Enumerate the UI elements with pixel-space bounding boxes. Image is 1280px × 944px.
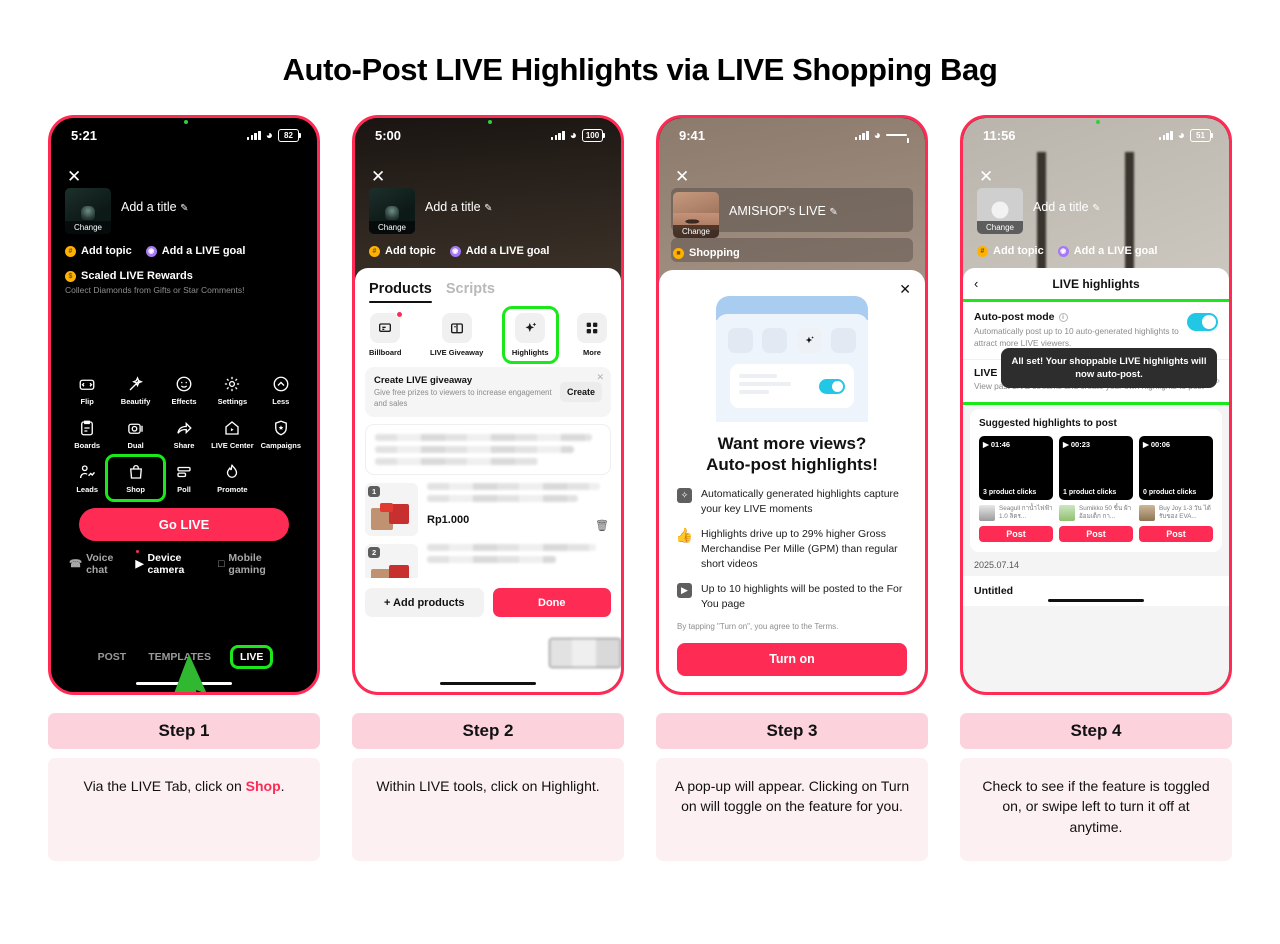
add-topic-label: Add topic [81, 245, 132, 257]
gift-graphic [380, 503, 393, 512]
page-title: Auto-Post LIVE Highlights via LIVE Shopp… [0, 0, 1280, 88]
giveaway-sub: Give free prizes to viewers to increase … [374, 388, 552, 409]
status-bar: 9:41 ◕ [659, 118, 925, 152]
add-title-field[interactable]: Add a title ✎ [1033, 188, 1100, 214]
smiley-icon [174, 374, 193, 393]
auto-post-popup: ✕ [659, 270, 925, 692]
close-icon[interactable]: ✕ [899, 281, 911, 298]
home-indicator [440, 682, 536, 686]
product-list-item[interactable]: 1 Rp1.000 🗑 [355, 475, 621, 536]
hero-tile [762, 328, 787, 353]
chevron-up-circle-icon [271, 374, 290, 393]
step-column-1: 5:21 ◕ 82 ✕ Change Ad [48, 115, 320, 861]
cover-image [385, 206, 399, 220]
stream-title-label: AMISHOP's LIVE [729, 204, 826, 218]
rewards-row: $ Scaled LIVE Rewards [65, 270, 303, 282]
battery-icon [886, 134, 907, 136]
live-setup-panel: Change Add a title ✎ # Add topic [51, 188, 317, 295]
step-label-3: Step 3 [656, 713, 928, 749]
tool-label: Shop [126, 485, 145, 494]
diamond-icon: $ [65, 271, 76, 282]
recording-date: 2025.07.14 [963, 552, 1229, 576]
scaled-live-rewards[interactable]: $ Scaled LIVE Rewards Collect Diamonds f… [65, 270, 303, 295]
hero-tile [831, 328, 856, 353]
recording-name-label: Untitled [974, 585, 1013, 597]
tool-settings[interactable]: Settings [208, 374, 256, 406]
sheet-tool-more[interactable]: More [577, 313, 607, 357]
auto-post-text: Auto-post mode i Automatically post up t… [974, 311, 1179, 349]
setup-chips: ■ Shopping [673, 247, 911, 259]
magic-wand-icon [126, 374, 145, 393]
phone-screen-1: 5:21 ◕ 82 ✕ Change Ad [51, 118, 317, 692]
sheet-tool-label: Billboard [369, 348, 402, 357]
auto-post-toggle[interactable] [1187, 313, 1218, 331]
person-trend-icon [78, 462, 97, 481]
highlight-thumbnail[interactable]: ▶ 00:06 0 product clicks [1139, 436, 1213, 500]
topic-icon: # [369, 246, 380, 257]
recording-dot-icon [184, 120, 188, 124]
change-cover-label[interactable]: Change [977, 221, 1023, 235]
phone-mockup-1: 5:21 ◕ 82 ✕ Change Ad [48, 115, 320, 695]
add-live-goal-label: Add a LIVE goal [162, 245, 246, 257]
highlight-duration: ▶ 00:06 [1143, 440, 1170, 449]
caption-text: A pop-up will appear. Clicking on Turn o… [675, 778, 909, 814]
info-icon[interactable]: i [1059, 313, 1068, 322]
live-tools-panel: Flip Beautify Effects Settings Less Boar… [51, 374, 317, 576]
tool-beautify[interactable]: Beautify [111, 374, 159, 406]
cover-thumbnail[interactable]: Change [673, 192, 719, 238]
add-products-button[interactable]: + Add products [365, 588, 484, 617]
goal-icon: ◉ [1058, 246, 1069, 257]
tool-promote[interactable]: Promote [208, 462, 256, 494]
product-thumbnail [1139, 505, 1155, 521]
blurred-text [427, 556, 556, 563]
change-cover-label[interactable]: Change [369, 221, 415, 235]
shopping-bag-icon [126, 462, 145, 481]
notification-badge [396, 311, 403, 318]
highlight-clicks: 1 product clicks [1063, 489, 1116, 496]
tab-scripts[interactable]: Scripts [446, 281, 495, 297]
step-label-2: Step 2 [352, 713, 624, 749]
phone-screen-3: 9:41 ◕ ✕ Change [659, 118, 925, 692]
post-button[interactable]: Post [979, 526, 1053, 542]
product-search-card[interactable] [365, 424, 611, 475]
setup-chips: # Add topic ◉ Add a LIVE goal [65, 245, 303, 257]
close-icon[interactable]: ✕ [979, 168, 993, 185]
step-caption-3: A pop-up will appear. Clicking on Turn o… [656, 758, 928, 861]
shopping-label: Shopping [689, 247, 740, 259]
status-indicators: ◕ 51 [1159, 129, 1211, 142]
battery-icon: 51 [1190, 129, 1211, 142]
recording-dot-icon [488, 120, 492, 124]
step-caption-2: Within LIVE tools, click on Highlight. [352, 758, 624, 861]
blurred-text [427, 544, 596, 551]
highlight-clicks: 3 product clicks [983, 489, 1036, 496]
wifi-icon: ◕ [266, 129, 273, 141]
signal-icon [551, 131, 565, 140]
poll-bars-icon [174, 462, 193, 481]
status-time: 9:41 [679, 128, 705, 143]
product-index: 1 [368, 486, 380, 497]
tool-label: Share [174, 441, 195, 450]
setup-chips: # Add topic ◉ Add a LIVE goal [369, 245, 607, 257]
camera-icon [126, 418, 145, 437]
tool-label: Beautify [121, 397, 151, 406]
highlight-product: Seagull กาน้ำไฟฟ้า 1.0 ลิตร... [979, 505, 1053, 521]
tool-label: Flip [81, 397, 94, 406]
close-icon[interactable]: ✕ [675, 168, 689, 185]
suggested-highlights-section: Suggested highlights to post ▶ 01:46 3 p… [970, 409, 1222, 552]
caption-text: Check to see if the feature is toggled o… [982, 778, 1209, 835]
giveaway-create-button[interactable]: Create [560, 382, 602, 402]
popup-heading: Want more views? Auto-post highlights! [677, 434, 907, 475]
tool-label: Leads [76, 485, 98, 494]
clipboard-icon [78, 418, 97, 437]
mode-mobile-gaming[interactable]: □ Mobile gaming [218, 552, 299, 576]
tool-leads[interactable]: Leads [63, 462, 111, 494]
trash-icon[interactable]: 🗑 [595, 519, 609, 532]
blurred-text [427, 483, 600, 490]
step-caption-1: Via the LIVE Tab, click on Shop. [48, 758, 320, 861]
highlight-card[interactable]: ▶ 01:46 3 product clicks Seagull กาน้ำไฟ… [979, 436, 1053, 542]
caption-text: Via the LIVE Tab, click on [83, 778, 245, 794]
add-topic-chip[interactable]: # Add topic [369, 245, 436, 257]
phone-icon: ☎ [69, 558, 82, 570]
add-topic-chip[interactable]: # Add topic [977, 245, 1044, 257]
add-title-label: Add a title [425, 200, 481, 214]
tool-grid-spacer [257, 462, 305, 494]
tool-label: Less [272, 397, 289, 406]
tool-flip[interactable]: Flip [63, 374, 111, 406]
step-column-4: 11:56 ◕ 51 ✕ Change A [960, 115, 1232, 861]
auto-post-sub: Automatically post up to 10 auto-generat… [974, 326, 1179, 349]
blurred-text [427, 495, 578, 502]
product-price: Rp1.000 [427, 514, 611, 526]
title-row: Change Add a title ✎ [369, 188, 607, 234]
flame-icon [223, 462, 242, 481]
giveaway-banner[interactable]: Create LIVE giveaway Give free prizes to… [365, 367, 611, 417]
tool-label: Settings [218, 397, 248, 406]
grid-icon [577, 313, 607, 343]
mode-label: Voice chat [86, 552, 135, 576]
tool-label: Dual [127, 441, 143, 450]
suggested-grid: ▶ 01:46 3 product clicks Seagull กาน้ำไฟ… [979, 436, 1213, 542]
add-live-goal-chip[interactable]: ◉ Add a LIVE goal [146, 245, 246, 257]
live-setup-panel: Change Add a title ✎ # Add topic [963, 188, 1229, 257]
status-indicators: ◕ 82 [247, 129, 299, 142]
house-play-icon [223, 418, 242, 437]
chevron-left-icon[interactable]: ‹ [974, 276, 978, 291]
benefit-item: ✧ Automatically generated highlights cap… [677, 487, 907, 517]
add-topic-label: Add topic [993, 245, 1044, 257]
suggested-title: Suggested highlights to post [979, 418, 1213, 429]
title-row: Change Add a title ✎ [65, 188, 303, 234]
blurred-text [375, 458, 538, 465]
status-time: 11:56 [983, 128, 1016, 143]
hero-toggle-card [730, 364, 854, 408]
wifi-icon: ◕ [570, 129, 577, 141]
tool-effects[interactable]: Effects [160, 374, 208, 406]
add-topic-label: Add topic [385, 245, 436, 257]
product-image: 1 [365, 483, 418, 536]
add-live-goal-chip[interactable]: ◉ Add a LIVE goal [1058, 245, 1158, 257]
home-indicator [1048, 599, 1144, 603]
video-camera-icon: ▶ [677, 583, 692, 598]
auto-post-title-row: Auto-post mode i [974, 311, 1179, 323]
tool-label: Boards [74, 441, 100, 450]
share-arrow-icon [174, 418, 193, 437]
add-live-goal-label: Add a LIVE goal [1074, 245, 1158, 257]
live-setup-panel: Change AMISHOP's LIVE ✎ ■ Shopping [659, 192, 925, 259]
rewards-title: Scaled LIVE Rewards [81, 270, 193, 282]
mode-selector: ☎ Voice chat ▶ Device camera □ Mobile ga… [63, 541, 305, 576]
blurred-overlay [549, 638, 621, 668]
tool-less[interactable]: Less [257, 374, 305, 406]
go-live-button[interactable]: Go LIVE [79, 508, 289, 541]
step-label-4: Step 4 [960, 713, 1232, 749]
billboard-icon [370, 313, 400, 343]
hero-illustration [716, 296, 868, 422]
tool-poll[interactable]: Poll [160, 462, 208, 494]
tool-campaigns[interactable]: Campaigns [257, 418, 305, 450]
signal-icon [855, 131, 869, 140]
cover-thumbnail[interactable]: Change [977, 188, 1023, 234]
benefit-text: Automatically generated highlights captu… [701, 487, 907, 517]
pencil-icon[interactable]: ✎ [180, 203, 188, 214]
status-time: 5:00 [375, 128, 401, 143]
popup-heading-line1: Want more views? [677, 434, 907, 455]
highlight-clicks: 0 product clicks [1143, 489, 1196, 496]
confirmation-tooltip: All set! Your shoppable LIVE highlights … [1001, 348, 1217, 388]
gift-graphic [389, 565, 409, 578]
wifi-icon: ◕ [1178, 129, 1185, 141]
turn-on-button[interactable]: Turn on [677, 643, 907, 676]
topic-icon: # [65, 246, 76, 257]
pencil-icon[interactable]: ✎ [1092, 203, 1100, 214]
battery-icon: 82 [278, 129, 299, 142]
cover-thumbnail[interactable]: Change [369, 188, 415, 234]
highlight-thumbnail[interactable]: ▶ 00:23 1 product clicks [1059, 436, 1133, 500]
blurred-text [375, 446, 574, 453]
tool-label: Campaigns [261, 441, 301, 450]
gift-box-icon [442, 313, 472, 343]
giveaway-title: Create LIVE giveaway [374, 375, 552, 386]
status-bar: 5:00 ◕ 100 [355, 118, 621, 152]
live-highlights-sheet: ‹ LIVE highlights Auto-post mode i Autom… [963, 268, 1229, 692]
phone-mockup-2: 5:00 ◕ 100 ✕ Change A [352, 115, 624, 695]
battery-icon: 100 [582, 129, 603, 142]
gear-icon [223, 374, 242, 393]
mobile-icon: □ [218, 558, 224, 570]
wifi-icon: ◕ [874, 129, 881, 141]
product-list-item[interactable]: 2 [355, 536, 621, 578]
add-live-goal-label: Add a LIVE goal [466, 245, 550, 257]
tool-label: Poll [177, 485, 191, 494]
sheet-tool-row: Billboard LIVE Giveaway Highlights [355, 297, 621, 365]
caption-tail: . [281, 778, 285, 794]
hero-tile [728, 328, 753, 353]
status-indicators: ◕ 100 [551, 129, 603, 142]
product-name: Buy Joy 1-3 วัน ได้รับของ EVA... [1159, 505, 1213, 521]
tool-grid: Flip Beautify Effects Settings Less Boar… [63, 374, 305, 494]
change-cover-label[interactable]: Change [673, 225, 719, 239]
product-thumbnail [979, 505, 995, 521]
shopping-chip[interactable]: ■ Shopping [673, 247, 740, 259]
product-name: Sumikko 50 ชิ้น ผ้าอ้อมเด็ก กา... [1079, 505, 1133, 521]
highlight-card[interactable]: ▶ 00:06 0 product clicks Buy Joy 1-3 วัน… [1139, 436, 1213, 542]
phone-mockup-4: 11:56 ◕ 51 ✕ Change A [960, 115, 1232, 695]
add-title-field[interactable]: Add a title ✎ [425, 188, 492, 214]
add-title-label: Add a title [121, 200, 177, 214]
auto-post-section: Auto-post mode i Automatically post up t… [963, 302, 1229, 402]
sparkle-icon [515, 313, 545, 343]
recording-dot-icon [1096, 120, 1100, 124]
sheet-tool-label: More [583, 348, 601, 357]
status-bar: 5:21 ◕ 82 [51, 118, 317, 152]
benefit-item: 👍 Highlights drive up to 29% higher Gros… [677, 527, 907, 572]
step-column-2: 5:00 ◕ 100 ✕ Change A [352, 115, 624, 861]
signal-icon [1159, 131, 1173, 140]
sheet-actions: + Add products Done [355, 578, 621, 617]
status-bar: 11:56 ◕ 51 [963, 118, 1229, 152]
bottom-tab-bar: POST TEMPLATES LIVE [51, 648, 317, 666]
tool-boards[interactable]: Boards [63, 418, 111, 450]
mode-label: Device camera [148, 552, 219, 576]
tool-label: LIVE Center [211, 441, 254, 450]
cover-image [81, 206, 95, 220]
sheet-tool-billboard[interactable]: Billboard [369, 313, 402, 357]
home-indicator [136, 682, 232, 686]
highlight-duration: ▶ 00:23 [1063, 440, 1090, 449]
post-button[interactable]: Post [1139, 526, 1213, 542]
highlight-card[interactable]: ▶ 00:23 1 product clicks Sumikko 50 ชิ้น… [1059, 436, 1133, 542]
benefit-list: ✧ Automatically generated highlights cap… [677, 487, 907, 611]
highlight-thumbnail[interactable]: ▶ 01:46 3 product clicks [979, 436, 1053, 500]
chevron-right-icon[interactable]: › [1217, 376, 1220, 387]
sheet-title: LIVE highlights [1052, 277, 1139, 291]
goal-icon: ◉ [450, 246, 461, 257]
product-details: Rp1.000 [427, 483, 611, 536]
mode-voice-chat[interactable]: ☎ Voice chat [69, 552, 135, 576]
thumbs-up-icon: 👍 [677, 528, 692, 543]
highlight-product: Sumikko 50 ชิ้น ผ้าอ้อมเด็ก กา... [1059, 505, 1133, 521]
highlight-duration: ▶ 01:46 [983, 440, 1010, 449]
steps-row: 5:21 ◕ 82 ✕ Change Ad [0, 88, 1280, 861]
blurred-text [375, 434, 592, 441]
tab-products[interactable]: Products [369, 281, 432, 297]
cover-thumbnail[interactable]: Change [65, 188, 111, 234]
add-title-label: Add a title [1033, 200, 1089, 214]
step-column-3: 9:41 ◕ ✕ Change [656, 115, 928, 861]
title-row: Change AMISHOP's LIVE ✎ [673, 192, 911, 238]
pencil-icon[interactable]: ✎ [829, 207, 837, 218]
tool-live-center[interactable]: LIVE Center [208, 418, 256, 450]
video-icon: ▶ [135, 558, 143, 570]
phone-screen-4: 11:56 ◕ 51 ✕ Change A [963, 118, 1229, 692]
product-name: Seagull กาน้ำไฟฟ้า 1.0 ลิตร... [999, 505, 1053, 521]
hero-tiles [728, 328, 856, 353]
tool-dual[interactable]: Dual [111, 418, 159, 450]
shopping-icon: ■ [673, 248, 684, 259]
mode-label: Mobile gaming [228, 552, 299, 576]
hero-lines [739, 374, 791, 398]
signal-icon [247, 131, 261, 140]
giveaway-text: Create LIVE giveaway Give free prizes to… [374, 375, 552, 409]
auto-post-title: Auto-post mode [974, 311, 1055, 323]
sparkle-square-icon: ✧ [677, 488, 692, 503]
popup-heading-line2: Auto-post highlights! [677, 455, 907, 476]
rewards-subtitle: Collect Diamonds from Gifts or Star Comm… [65, 285, 303, 295]
flip-camera-icon [78, 374, 97, 393]
sheet-tool-label: LIVE Giveaway [430, 348, 483, 357]
benefit-text: Highlights drive up to 29% higher Gross … [701, 527, 907, 572]
live-tools-sheet: Products Scripts Billboard LIVE Giveaway [355, 268, 621, 692]
cover-image [992, 202, 1009, 219]
status-indicators: ◕ [855, 129, 907, 141]
tab-post[interactable]: POST [98, 651, 127, 663]
done-button[interactable]: Done [493, 588, 612, 617]
add-topic-chip[interactable]: # Add topic [65, 245, 132, 257]
tool-shop[interactable]: Shop [108, 457, 162, 499]
hero-toggle-icon [819, 379, 845, 394]
close-icon[interactable]: ✕ [67, 168, 81, 185]
post-button[interactable]: Post [1059, 526, 1133, 542]
phone-mockup-3: 9:41 ◕ ✕ Change [656, 115, 928, 695]
stream-title-field[interactable]: AMISHOP's LIVE ✎ [729, 192, 838, 218]
mode-device-camera[interactable]: ▶ Device camera [135, 552, 218, 576]
close-icon[interactable]: ✕ [596, 372, 604, 383]
status-time: 5:21 [71, 128, 97, 143]
title-row: Change Add a title ✎ [977, 188, 1215, 234]
live-setup-panel: Change Add a title ✎ # Add topic [355, 188, 621, 257]
tab-templates[interactable]: TEMPLATES [148, 651, 211, 663]
sheet-tool-highlights[interactable]: Highlights [505, 309, 556, 361]
tool-label: Effects [171, 397, 196, 406]
tab-live[interactable]: LIVE [233, 648, 270, 666]
tool-share[interactable]: Share [160, 418, 208, 450]
step-caption-4: Check to see if the feature is toggled o… [960, 758, 1232, 861]
add-title-field[interactable]: Add a title ✎ [121, 188, 188, 214]
recording-name[interactable]: Untitled [963, 576, 1229, 606]
goal-icon: ◉ [146, 246, 157, 257]
product-index: 2 [368, 547, 380, 558]
benefit-item: ▶ Up to 10 highlights will be posted to … [677, 582, 907, 612]
sheet-tool-live-giveaway[interactable]: LIVE Giveaway [430, 313, 483, 357]
phone-screen-2: 5:00 ◕ 100 ✕ Change A [355, 118, 621, 692]
product-thumbnail [1059, 505, 1075, 521]
sheet-tool-label: Highlights [512, 348, 549, 357]
caption-text: Within LIVE tools, click on Highlight. [376, 778, 599, 794]
sheet-tabs: Products Scripts [355, 268, 621, 297]
add-live-goal-chip[interactable]: ◉ Add a LIVE goal [450, 245, 550, 257]
topic-icon: # [977, 246, 988, 257]
product-details [427, 544, 611, 578]
terms-note: By tapping "Turn on", you agree to the T… [677, 622, 907, 631]
benefit-text: Up to 10 highlights will be posted to th… [701, 582, 907, 612]
close-icon[interactable]: ✕ [371, 168, 385, 185]
step-label-1: Step 1 [48, 713, 320, 749]
change-cover-label[interactable]: Change [65, 221, 111, 235]
tool-label: Promote [217, 485, 247, 494]
setup-chips: # Add topic ◉ Add a LIVE goal [977, 245, 1215, 257]
hero-sparkle-tile [797, 328, 822, 353]
highlight-product: Buy Joy 1-3 วัน ได้รับของ EVA... [1139, 505, 1213, 521]
pencil-icon[interactable]: ✎ [484, 203, 492, 214]
caption-highlight: Shop [246, 778, 281, 794]
sheet-header: ‹ LIVE highlights [963, 268, 1229, 299]
product-image: 2 [365, 544, 418, 578]
shield-star-icon [271, 418, 290, 437]
